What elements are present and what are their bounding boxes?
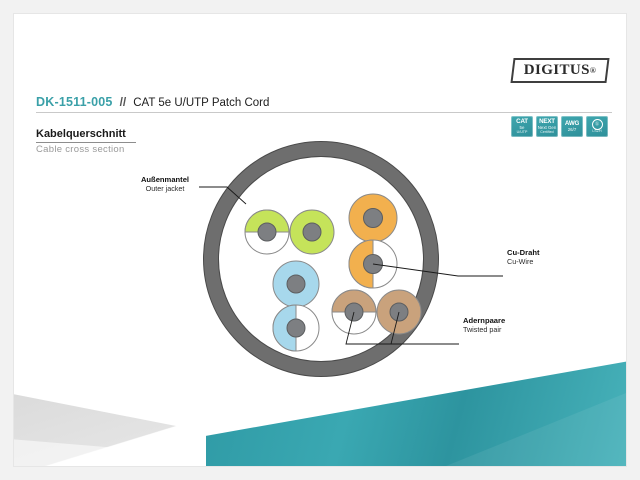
orange-solid-wire — [349, 194, 397, 242]
cable-cross-section-diagram — [14, 14, 626, 466]
blue-solid-core — [287, 275, 305, 293]
orange-solid-core — [364, 209, 383, 228]
outer-jacket-ring — [211, 149, 431, 369]
green-solid-core — [303, 223, 321, 241]
slide-root: DIGITUS® DK-1511-005 // CAT 5e U/UTP Pat… — [0, 0, 640, 480]
blue-solid-wire — [273, 261, 319, 307]
callout-twisted-pair: Adernpaare Twisted pair — [463, 317, 505, 334]
blue-striped-core — [287, 319, 305, 337]
callout-outer-jacket-en: Outer jacket — [122, 185, 208, 193]
green-solid-wire — [290, 210, 334, 254]
blue-striped-wire — [273, 305, 319, 351]
callout-cu-wire: Cu-Draht Cu-Wire — [507, 249, 539, 266]
callout-twisted-pair-en: Twisted pair — [463, 326, 505, 334]
slide-page: DIGITUS® DK-1511-005 // CAT 5e U/UTP Pat… — [14, 14, 626, 466]
callout-outer-jacket: Außenmantel Outer jacket — [122, 176, 208, 193]
green-striped-wire — [245, 210, 289, 254]
callout-cu-wire-en: Cu-Wire — [507, 258, 539, 266]
green-striped-core — [258, 223, 276, 241]
